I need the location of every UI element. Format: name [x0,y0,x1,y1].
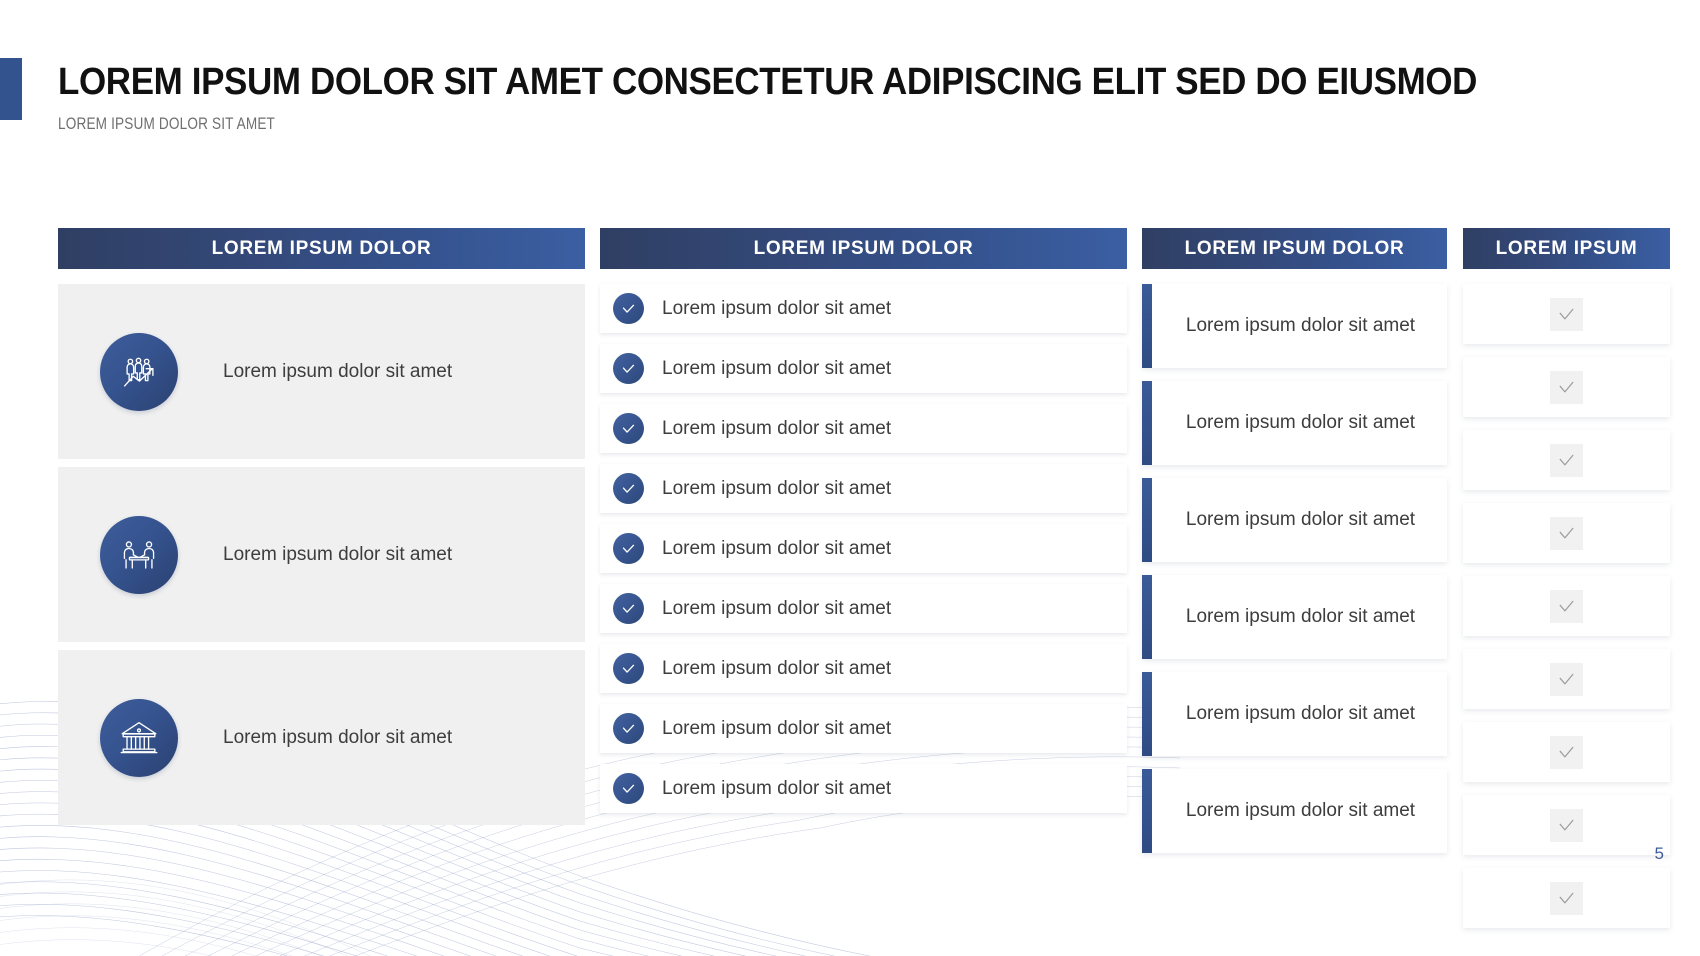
checkbox-card[interactable] [1463,284,1670,344]
checkmark-icon[interactable] [1550,371,1583,404]
column-3-header: LOREM IPSUM DOLOR [1142,228,1447,269]
column-4: LOREM IPSUM [1463,228,1670,941]
column-1-body: Lorem ipsum dolor sit amet [58,284,585,825]
bar-card[interactable]: Lorem ipsum dolor sit amet [1142,769,1447,853]
list-item-label: Lorem ipsum dolor sit amet [662,598,891,620]
checkbox-card[interactable] [1463,868,1670,928]
column-2-body: Lorem ipsum dolor sit amet Lorem ipsum d… [600,284,1127,813]
column-1: LOREM IPSUM DOLOR [58,228,585,833]
bar-card-label: Lorem ipsum dolor sit amet [1186,606,1415,628]
card-accent-bar [1142,478,1152,562]
list-item[interactable]: Lorem ipsum dolor sit amet [600,584,1127,633]
bar-card-label: Lorem ipsum dolor sit amet [1186,412,1415,434]
check-circle-icon [613,473,644,504]
bar-card[interactable]: Lorem ipsum dolor sit amet [1142,575,1447,659]
checkbox-card[interactable] [1463,722,1670,782]
title-accent-bar [0,58,22,120]
list-item[interactable]: Lorem ipsum dolor sit amet [600,764,1127,813]
check-circle-icon [613,653,644,684]
icon-card[interactable]: Lorem ipsum dolor sit amet [58,650,585,825]
card-accent-bar [1142,381,1152,465]
card-accent-bar [1142,769,1152,853]
checkbox-card[interactable] [1463,357,1670,417]
list-item-label: Lorem ipsum dolor sit amet [662,418,891,440]
check-circle-icon [613,533,644,564]
list-item-label: Lorem ipsum dolor sit amet [662,718,891,740]
check-circle-icon [613,773,644,804]
slide-canvas: LOREM IPSUM DOLOR SIT AMET CONSECTETUR A… [0,0,1700,956]
bar-card-label: Lorem ipsum dolor sit amet [1186,800,1415,822]
bar-card[interactable]: Lorem ipsum dolor sit amet [1142,478,1447,562]
checkmark-icon[interactable] [1550,663,1583,696]
list-item[interactable]: Lorem ipsum dolor sit amet [600,284,1127,333]
list-item[interactable]: Lorem ipsum dolor sit amet [600,644,1127,693]
icon-card-label: Lorem ipsum dolor sit amet [223,727,452,749]
icon-card-label: Lorem ipsum dolor sit amet [223,544,452,566]
checkbox-card[interactable] [1463,503,1670,563]
bar-card-label: Lorem ipsum dolor sit amet [1186,315,1415,337]
list-item[interactable]: Lorem ipsum dolor sit amet [600,704,1127,753]
column-2-header: LOREM IPSUM DOLOR [600,228,1127,269]
checkmark-icon[interactable] [1550,444,1583,477]
checkmark-icon[interactable] [1550,736,1583,769]
list-item-label: Lorem ipsum dolor sit amet [662,478,891,500]
icon-card-label: Lorem ipsum dolor sit amet [223,361,452,383]
checkbox-card[interactable] [1463,430,1670,490]
column-2: LOREM IPSUM DOLOR Lorem ipsum dolor sit … [600,228,1127,824]
column-3: LOREM IPSUM DOLOR Lorem ipsum dolor sit … [1142,228,1447,866]
bar-card[interactable]: Lorem ipsum dolor sit amet [1142,381,1447,465]
list-item[interactable]: Lorem ipsum dolor sit amet [600,524,1127,573]
bank-building-icon [100,699,178,777]
checkbox-card[interactable] [1463,576,1670,636]
page-title: LOREM IPSUM DOLOR SIT AMET CONSECTETUR A… [58,61,1477,104]
list-item-label: Lorem ipsum dolor sit amet [662,778,891,800]
checkmark-icon[interactable] [1550,809,1583,842]
bar-card-label: Lorem ipsum dolor sit amet [1186,703,1415,725]
list-item-label: Lorem ipsum dolor sit amet [662,358,891,380]
check-circle-icon [613,353,644,384]
list-item[interactable]: Lorem ipsum dolor sit amet [600,344,1127,393]
bar-card[interactable]: Lorem ipsum dolor sit amet [1142,672,1447,756]
card-accent-bar [1142,284,1152,368]
checkbox-card[interactable] [1463,649,1670,709]
list-item-label: Lorem ipsum dolor sit amet [662,658,891,680]
icon-card[interactable]: Lorem ipsum dolor sit amet [58,284,585,459]
checkmark-icon[interactable] [1550,298,1583,331]
column-4-body [1463,284,1670,928]
column-4-header: LOREM IPSUM [1463,228,1670,269]
page-subtitle: LOREM IPSUM DOLOR SIT AMET [58,114,275,134]
card-accent-bar [1142,672,1152,756]
list-item-label: Lorem ipsum dolor sit amet [662,538,891,560]
checkmark-icon[interactable] [1550,882,1583,915]
column-1-header: LOREM IPSUM DOLOR [58,228,585,269]
checkbox-card[interactable] [1463,795,1670,855]
page-number: 5 [1655,844,1664,864]
bar-card[interactable]: Lorem ipsum dolor sit amet [1142,284,1447,368]
bar-card-label: Lorem ipsum dolor sit amet [1186,509,1415,531]
checkmark-icon[interactable] [1550,590,1583,623]
comparison-board: LOREM IPSUM DOLOR [0,0,1700,956]
checkmark-icon[interactable] [1550,517,1583,550]
list-item[interactable]: Lorem ipsum dolor sit amet [600,464,1127,513]
icon-card[interactable]: Lorem ipsum dolor sit amet [58,467,585,642]
check-circle-icon [613,413,644,444]
people-growth-chart-icon [100,333,178,411]
check-circle-icon [613,293,644,324]
column-3-body: Lorem ipsum dolor sit amet Lorem ipsum d… [1142,284,1447,853]
list-item[interactable]: Lorem ipsum dolor sit amet [600,404,1127,453]
list-item-label: Lorem ipsum dolor sit amet [662,298,891,320]
check-circle-icon [613,593,644,624]
two-people-meeting-table-icon [100,516,178,594]
check-circle-icon [613,713,644,744]
card-accent-bar [1142,575,1152,659]
